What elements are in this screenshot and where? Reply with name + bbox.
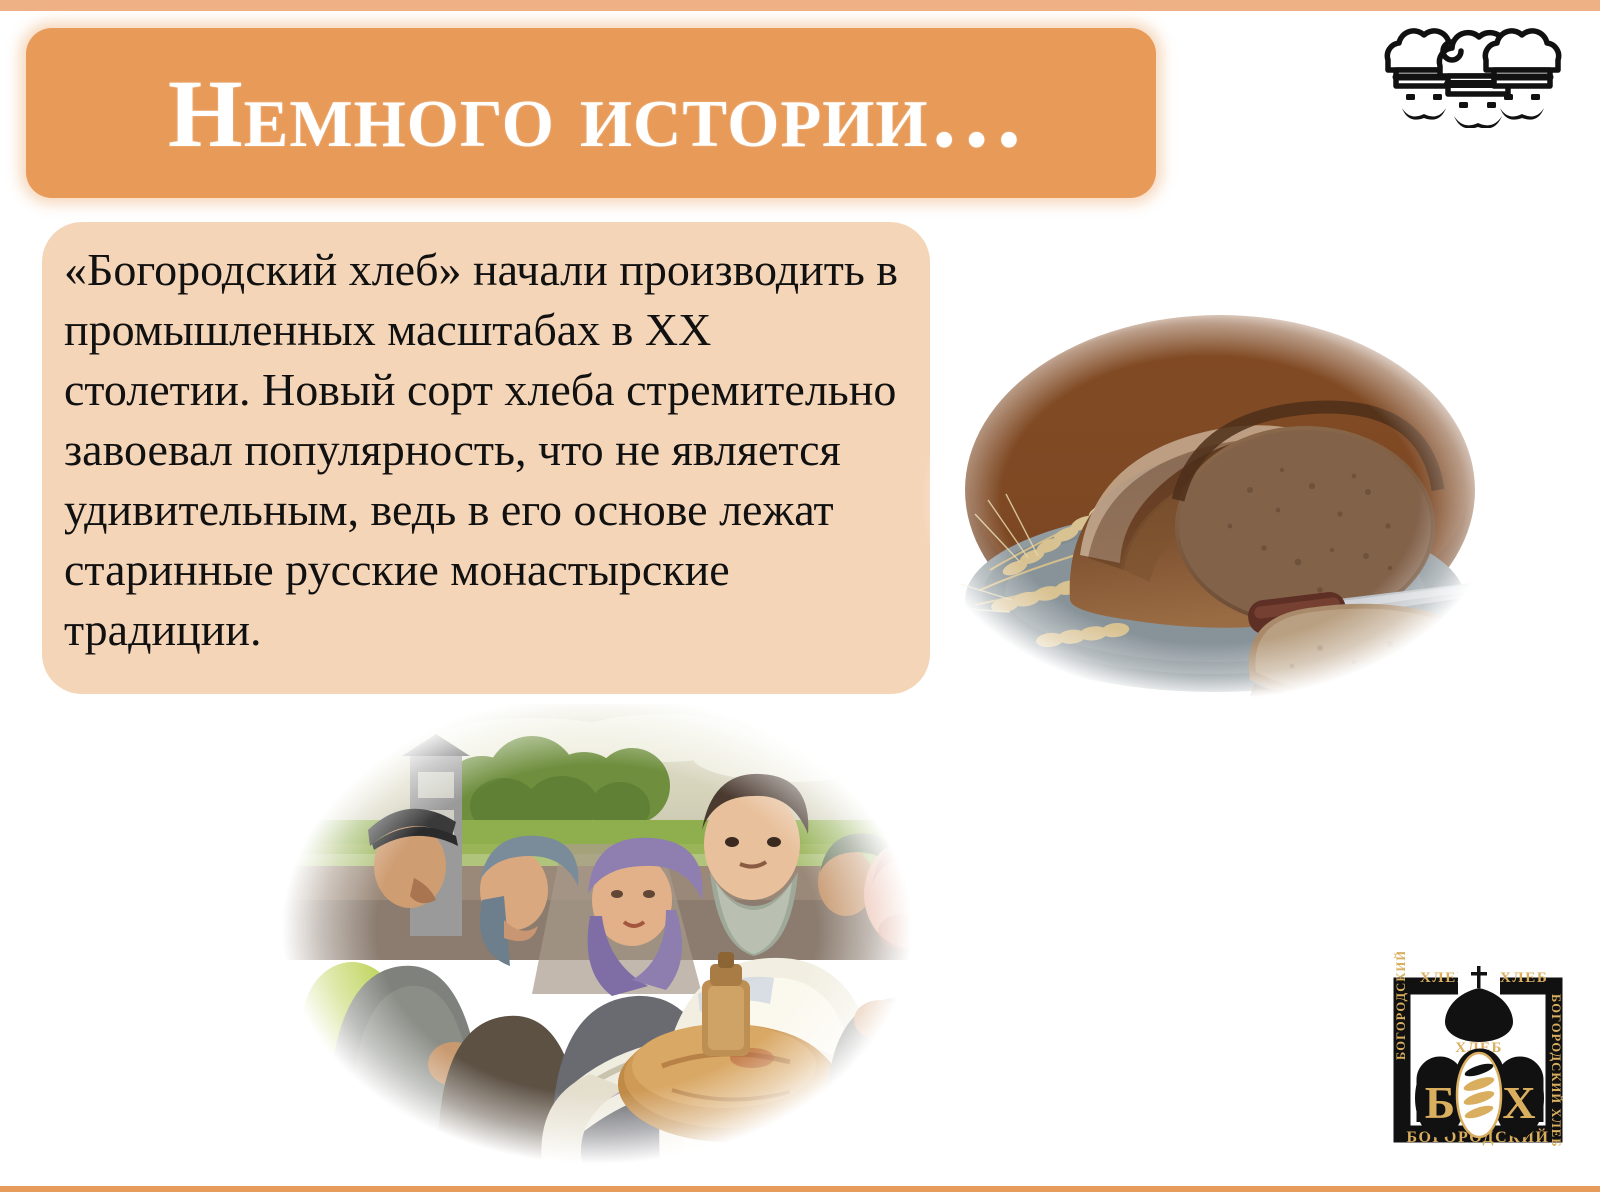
chef-hats-icon	[1374, 24, 1570, 128]
page-title: Немного истории…	[168, 58, 1118, 170]
logo-right-side-text: БОГОРОДСКИЙ ХЛЕБ	[1549, 994, 1563, 1148]
top-accent-strip	[0, 0, 1600, 11]
sliced-rye-bread-photo	[920, 300, 1500, 700]
logo-left-side-text: БОГОРОДСКИЙ ХЛЕБ	[1394, 952, 1408, 1060]
bottom-accent-strip	[0, 1186, 1600, 1192]
body-text: «Богородский хлеб» начали производить в …	[64, 240, 904, 660]
bogorodsky-hleb-logo: БОГОРОДСКИЙ ХЛЕБ БОГОРОДСКИЙ ХЛЕБ ХЛЕБ Х…	[1372, 952, 1584, 1164]
slide-canvas: Немного истории…	[0, 0, 1600, 1200]
logo-letter-h: Х	[1502, 1077, 1535, 1128]
logo-top-right-text: ХЛЕБ	[1500, 970, 1548, 986]
peasants-bread-and-salt-painting	[232, 694, 962, 1164]
logo-letter-b: Б	[1425, 1077, 1455, 1128]
